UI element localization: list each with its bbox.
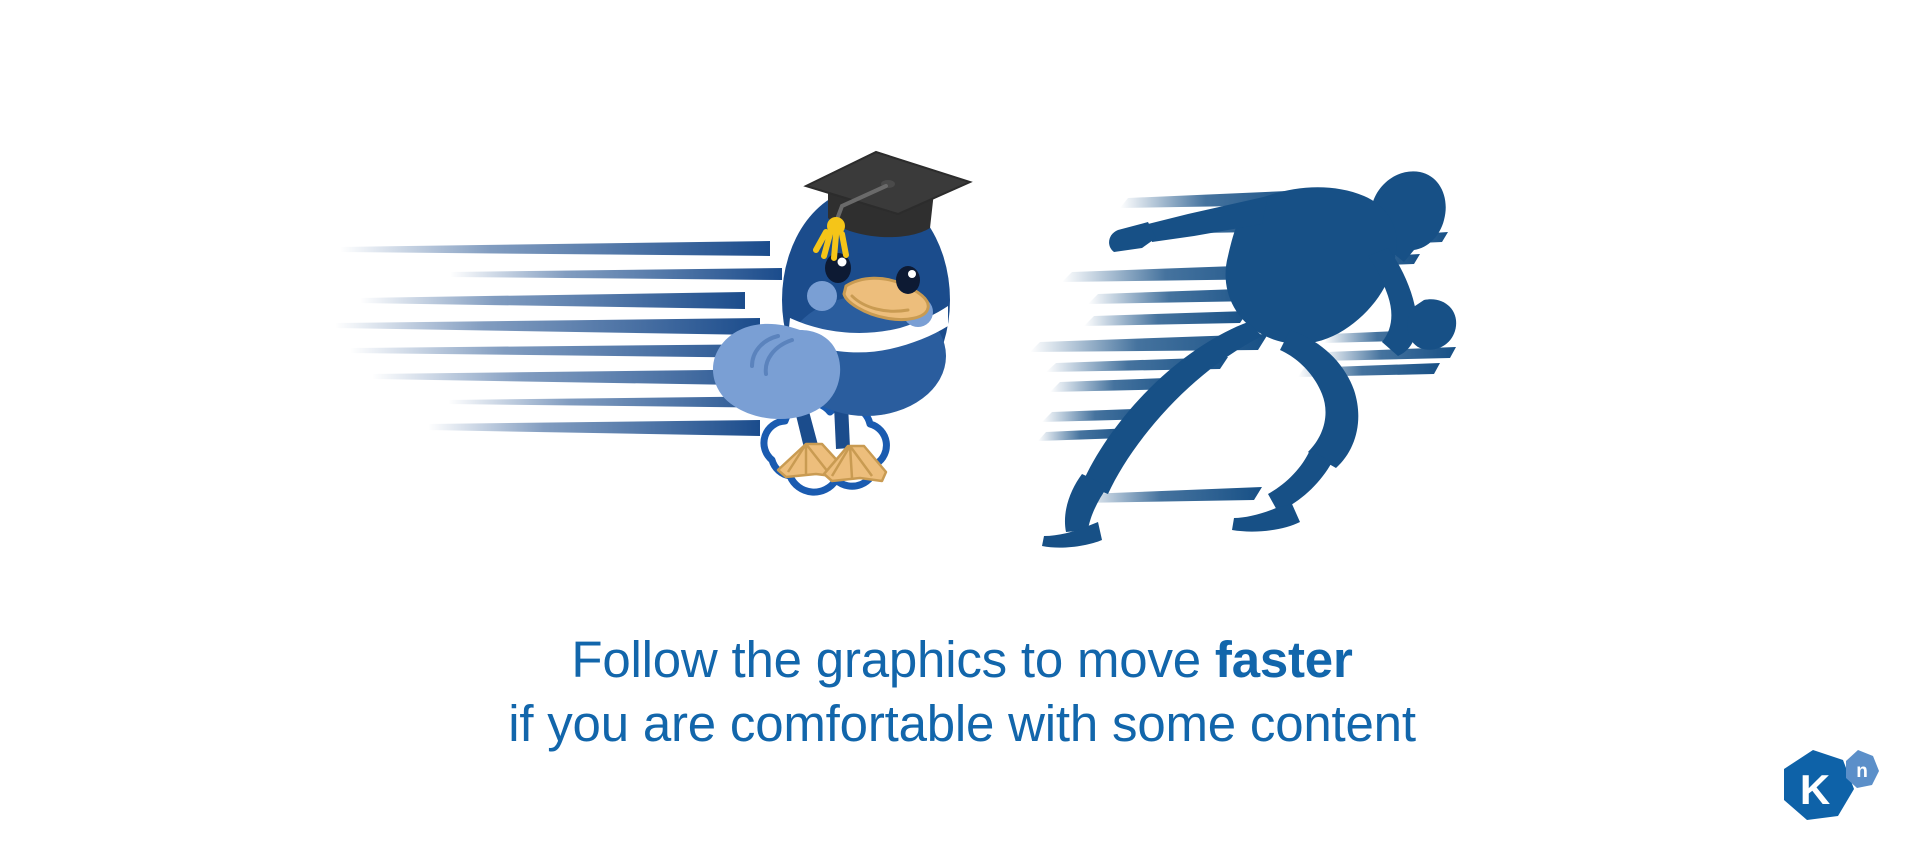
brand-logo[interactable]: K n (1772, 738, 1892, 838)
caption-emphasis-faster: faster (1215, 631, 1353, 688)
caption-block: Follow the graphics to move faster if yo… (0, 628, 1924, 757)
sprinting-runner-silhouette (1030, 171, 1456, 547)
caption-line-1: Follow the graphics to move faster (0, 628, 1924, 692)
artwork-illustration (0, 0, 1924, 560)
slide-canvas: Follow the graphics to move faster if yo… (0, 0, 1924, 852)
caption-line-2: if you are comfortable with some content (0, 692, 1924, 756)
duck-cheek-left (807, 281, 837, 311)
caption-line-1-prefix: Follow the graphics to move (571, 631, 1215, 688)
logo-letter-n: n (1856, 761, 1868, 782)
logo-letter-k: K (1800, 766, 1830, 813)
